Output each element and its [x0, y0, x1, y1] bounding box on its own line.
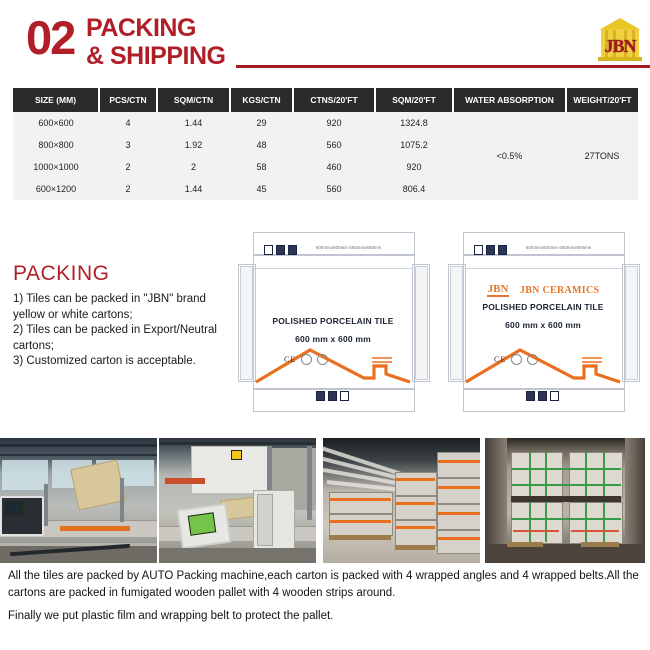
ce-mark-icon: CE: [494, 355, 506, 364]
footer-description: All the tiles are packed by AUTO Packing…: [8, 568, 642, 625]
col-header-size: SIZE (MM): [13, 88, 99, 112]
carton-illustration-branded: 600mmx600mm 600mmx600mm JBN JBN CERAMICS…: [448, 230, 638, 415]
carton-handling-icons-top: [264, 245, 297, 255]
cell-water-absorption: <0.5%: [453, 112, 566, 200]
this-side-up-icon: [288, 245, 297, 255]
carton-micro-text: 600mmx600mm 600mmx600mm: [316, 245, 381, 251]
carton-illustration-neutral: 600mmx600mm 600mmx600mm POLISHED PORCELA…: [238, 230, 428, 415]
packing-notes: PACKING 1) Tiles can be packed in "JBN" …: [13, 262, 228, 370]
this-side-up-icon: [316, 391, 325, 401]
cell-kgs: 45: [230, 178, 293, 200]
fragile-icon: [340, 391, 349, 401]
cell-ctns: 920: [293, 112, 375, 134]
footer-paragraph-1: All the tiles are packed by AUTO Packing…: [8, 568, 642, 601]
ce-mark-icon: CE: [284, 355, 296, 364]
carton-brand-text: JBN CERAMICS: [520, 285, 599, 296]
cell-kgs: 48: [230, 134, 293, 156]
photo-warehouse-pallets: [323, 438, 480, 563]
iso-mark-icon: [511, 354, 522, 365]
col-header-ctns-20ft: CTNS/20'FT: [293, 88, 375, 112]
cell-size: 800×800: [13, 134, 99, 156]
factory-scene-1: [0, 438, 157, 563]
carton-certification-marks: CE: [494, 354, 538, 365]
col-header-water-absorption: WATER ABSORPTION: [453, 88, 566, 112]
cell-size: 600×600: [13, 112, 99, 134]
photo-auto-packing-machine-1: [0, 438, 157, 563]
umbrella-icon: [486, 245, 495, 255]
cell-ctns: 560: [293, 134, 375, 156]
header-divider: [236, 65, 650, 68]
warehouse-scene: [323, 438, 480, 563]
carton-micro-text: 600mmx600mm 600mmx600mm: [526, 245, 591, 251]
photo-loaded-container: [485, 438, 645, 563]
quality-mark-icon: [527, 354, 538, 365]
col-header-kgs-ctn: KGS/CTN: [230, 88, 293, 112]
carton-brand-mark: JBN: [487, 284, 510, 297]
cell-sqm-20: 1324.8: [375, 112, 453, 134]
cell-size: 600×1200: [13, 178, 99, 200]
umbrella-icon: [538, 391, 547, 401]
page-title-line2: & SHIPPING: [86, 44, 225, 69]
cell-weight-20ft: 27TONS: [566, 112, 638, 200]
carton-header-strip: [254, 255, 412, 269]
cell-kgs: 58: [230, 156, 293, 178]
cell-pcs: 2: [99, 156, 157, 178]
carton-roof-graphic: [462, 338, 624, 391]
col-header-sqm-ctn: SQM/CTN: [157, 88, 230, 112]
carton-roof-graphic: [252, 338, 414, 391]
cell-pcs: 3: [99, 134, 157, 156]
cell-sqm-ctn: 1.44: [157, 112, 230, 134]
table-header-row: SIZE (MM) PCS/CTN SQM/CTN KGS/CTN CTNS/2…: [13, 88, 638, 112]
jbn-logo-icon: JBN: [596, 16, 644, 64]
cell-sqm-20: 1075.2: [375, 134, 453, 156]
carton-product-line1: POLISHED PORCELAIN TILE: [238, 316, 428, 326]
logo-wordmark: JBN: [596, 36, 644, 57]
cell-sqm-ctn: 1.44: [157, 178, 230, 200]
footer-paragraph-2: Finally we put plastic film and wrapping…: [8, 608, 642, 625]
container-scene: [485, 438, 645, 563]
factory-scene-2: [159, 438, 316, 563]
table-row: 600×600 4 1.44 29 920 1324.8 <0.5% 27TON…: [13, 112, 638, 134]
cell-kgs: 29: [230, 112, 293, 134]
umbrella-icon: [276, 245, 285, 255]
iso-mark-icon: [301, 354, 312, 365]
carton-product-line2: 600 mm x 600 mm: [448, 320, 638, 330]
packing-heading: PACKING: [13, 262, 228, 286]
umbrella-icon: [328, 391, 337, 401]
col-header-pcs-ctn: PCS/CTN: [99, 88, 157, 112]
photo-strip: [0, 438, 650, 563]
carton-header-strip: [464, 255, 622, 269]
this-side-up-icon: [526, 391, 535, 401]
this-side-up-icon: [498, 245, 507, 255]
fragile-icon: [264, 245, 273, 255]
quality-mark-icon: [317, 354, 328, 365]
carton-brand-row: JBN JBN CERAMICS: [448, 282, 638, 300]
carton-handling-icons-bottom: [316, 391, 349, 401]
cell-size: 1000×1000: [13, 156, 99, 178]
fragile-icon: [550, 391, 559, 401]
carton-handling-icons-top: [474, 245, 507, 255]
carton-certification-marks: CE: [284, 354, 328, 365]
cell-sqm-20: 806.4: [375, 178, 453, 200]
page-title: PACKING & SHIPPING: [86, 16, 225, 69]
cell-ctns: 560: [293, 178, 375, 200]
col-header-sqm-20ft: SQM/20'FT: [375, 88, 453, 112]
cell-sqm-ctn: 2: [157, 156, 230, 178]
page-header: 02 PACKING & SHIPPING JBN: [0, 0, 650, 80]
section-number: 02: [26, 14, 74, 61]
photo-auto-packing-machine-2: [159, 438, 316, 563]
col-header-weight-20ft: WEIGHT/20'FT: [566, 88, 638, 112]
cell-sqm-ctn: 1.92: [157, 134, 230, 156]
packing-body: 1) Tiles can be packed in "JBN" brand ye…: [13, 292, 228, 370]
cell-pcs: 4: [99, 112, 157, 134]
cell-sqm-20: 920: [375, 156, 453, 178]
cell-ctns: 460: [293, 156, 375, 178]
carton-handling-icons-bottom: [526, 391, 559, 401]
logo-base-shape: [598, 57, 642, 61]
specification-table: SIZE (MM) PCS/CTN SQM/CTN KGS/CTN CTNS/2…: [13, 88, 638, 200]
carton-product-line1: POLISHED PORCELAIN TILE: [448, 302, 638, 312]
cell-pcs: 2: [99, 178, 157, 200]
fragile-icon: [474, 245, 483, 255]
page-title-line1: PACKING: [86, 16, 225, 41]
